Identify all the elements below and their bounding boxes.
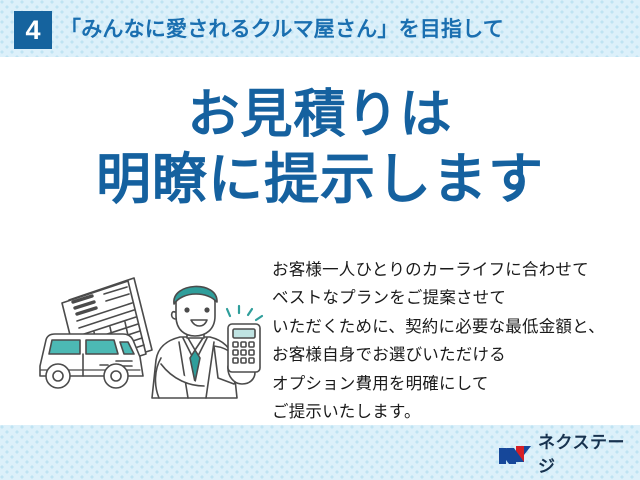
calculator	[228, 324, 260, 372]
headline-line-2: 明瞭に提示します	[0, 151, 640, 209]
body-line: ベストなプランをご提案させて	[272, 284, 622, 312]
body-line: お客様一人ひとりのカーライフに合わせて	[272, 256, 622, 284]
header: 4 「みんなに愛されるクルマ屋さん」を目指して	[0, 0, 640, 57]
headline-line-1: お見積りは	[0, 88, 640, 143]
nextage-n-mark-icon	[498, 443, 532, 467]
nextage-logo-text: ネクステージ	[538, 431, 640, 479]
van-illustration	[40, 334, 143, 388]
body-line: オプション費用を明確にして	[272, 370, 622, 398]
body-copy: お客様一人ひとりのカーライフに合わせて ベストなプランをご提案させて いただくた…	[272, 256, 622, 426]
body-line: ご提示いたします。	[272, 398, 622, 426]
nextage-logo: ネクステージ	[498, 440, 640, 470]
headline: お見積りは 明瞭に提示します	[0, 88, 640, 208]
sparkle-marks	[227, 306, 262, 320]
header-title: 「みんなに愛されるクルマ屋さん」を目指して	[60, 12, 504, 48]
body-line: お客様自身でお選びいただける	[272, 341, 622, 369]
section-number-badge: 4	[14, 11, 52, 49]
body-line: いただくために、契約に必要な最低金額と、	[272, 313, 622, 341]
promo-banner: 4 「みんなに愛されるクルマ屋さん」を目指して お見積りは 明瞭に提示します お…	[0, 0, 640, 480]
illustration-salesman-calculator	[28, 258, 273, 418]
